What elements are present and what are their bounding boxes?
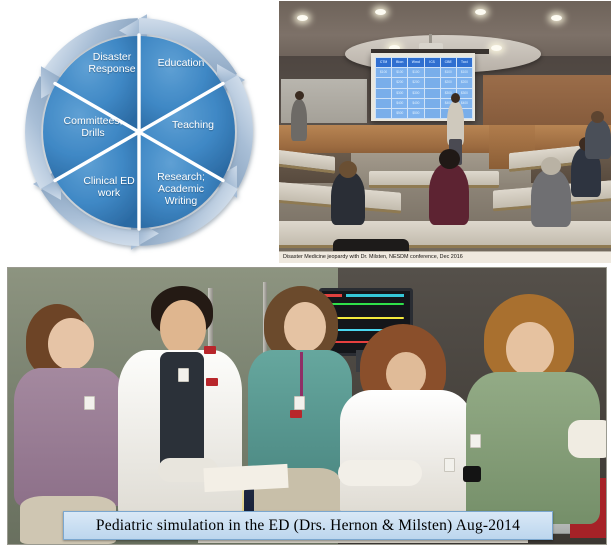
audience-member-head bbox=[541, 157, 561, 175]
cycle-diagram: DisasterResponse Education Teaching Rese… bbox=[0, 0, 278, 262]
audience-member-head bbox=[339, 161, 357, 178]
jeopardy-cell: $100 bbox=[376, 68, 391, 77]
audience-member bbox=[331, 171, 365, 225]
jeopardy-cell: $200 bbox=[457, 78, 472, 87]
jeopardy-cell: $100 bbox=[457, 68, 472, 77]
jeopardy-category: CBE bbox=[441, 58, 456, 67]
forearm bbox=[338, 460, 422, 486]
lecture-hall-photo: CTM Bion Wmd ICS CBE Toxi $100 $100 $100… bbox=[279, 1, 611, 263]
jeopardy-cell: $200 bbox=[392, 78, 407, 87]
lecture-photo-caption: Disaster Medicine jeopardy with Dr. Mils… bbox=[283, 252, 603, 262]
monitor-status-bar bbox=[346, 294, 404, 297]
audience-member-head bbox=[439, 149, 460, 169]
jeopardy-cell: $400 bbox=[392, 99, 407, 108]
jeopardy-cell bbox=[425, 109, 440, 118]
id-badge bbox=[178, 368, 189, 382]
presenter-head bbox=[451, 93, 460, 103]
jeopardy-cell: $500 bbox=[408, 109, 423, 118]
jeopardy-cell bbox=[425, 89, 440, 98]
jeopardy-cell bbox=[376, 78, 391, 87]
lanyard bbox=[300, 352, 303, 398]
audience-member-head bbox=[591, 111, 604, 123]
jeopardy-cell: $300 bbox=[408, 89, 423, 98]
ceiling-light-icon bbox=[375, 9, 386, 15]
ceiling-light-icon bbox=[297, 15, 308, 21]
ceiling-light-icon bbox=[551, 15, 562, 21]
jeopardy-cell: $100 bbox=[408, 68, 423, 77]
head bbox=[48, 318, 94, 370]
jeopardy-cell: $500 bbox=[392, 109, 407, 118]
ceiling-light-icon bbox=[475, 9, 486, 15]
id-badge bbox=[84, 396, 95, 410]
white-coat bbox=[340, 390, 472, 520]
attendee-standing-body bbox=[291, 99, 307, 141]
cycle-wheel: DisasterResponse Education Teaching Rese… bbox=[14, 8, 264, 256]
audience-member bbox=[429, 163, 469, 225]
jeopardy-category: CTM bbox=[376, 58, 391, 67]
jeopardy-cell: $300 bbox=[392, 89, 407, 98]
jeopardy-category: ICS bbox=[425, 58, 440, 67]
id-badge bbox=[294, 396, 305, 410]
ceiling-light-icon bbox=[491, 45, 502, 51]
paper-sheet bbox=[203, 464, 288, 492]
red-name-tag bbox=[206, 378, 218, 386]
head bbox=[506, 322, 554, 376]
jeopardy-cell: $200 bbox=[441, 78, 456, 87]
pediatric-simulation-photo bbox=[7, 267, 607, 545]
jeopardy-category: Wmd bbox=[408, 58, 423, 67]
audience-member bbox=[531, 169, 571, 227]
jeopardy-cell: $100 bbox=[392, 68, 407, 77]
jeopardy-cell: $100 bbox=[441, 68, 456, 77]
simulation-caption-text: Pediatric simulation in the ED (Drs. Her… bbox=[96, 517, 520, 535]
jeopardy-cell bbox=[425, 68, 440, 77]
undershirt-sleeve bbox=[568, 420, 607, 458]
red-name-tag bbox=[290, 410, 302, 418]
jeopardy-cell bbox=[425, 99, 440, 108]
head bbox=[284, 302, 326, 352]
jeopardy-cell bbox=[376, 109, 391, 118]
simulation-caption-banner: Pediatric simulation in the ED (Drs. Her… bbox=[63, 511, 553, 540]
audience-member bbox=[585, 119, 611, 159]
jeopardy-cell: $400 bbox=[408, 99, 423, 108]
jeopardy-cell bbox=[425, 78, 440, 87]
jeopardy-cell: $200 bbox=[408, 78, 423, 87]
wrist-watch bbox=[463, 466, 481, 482]
id-badge bbox=[470, 434, 481, 448]
torso bbox=[14, 368, 126, 506]
head bbox=[160, 300, 206, 356]
red-name-tag bbox=[204, 346, 216, 354]
jeopardy-cell bbox=[376, 89, 391, 98]
id-badge bbox=[444, 458, 455, 472]
ecg-trace bbox=[326, 303, 404, 305]
jeopardy-category: Toxi bbox=[457, 58, 472, 67]
cycle-wheel-graphic bbox=[14, 8, 264, 256]
jeopardy-cell bbox=[376, 99, 391, 108]
jeopardy-category: Bion bbox=[392, 58, 407, 67]
attendee-standing-head bbox=[295, 91, 304, 100]
